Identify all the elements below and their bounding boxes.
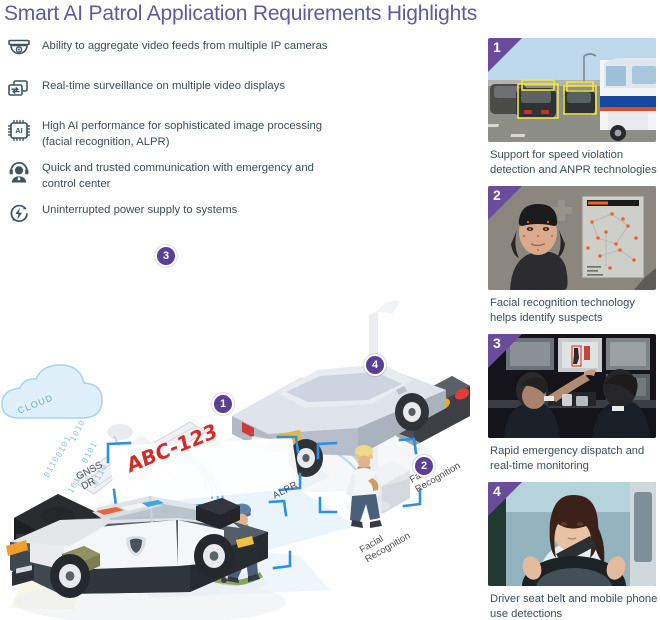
highlight-card-1[interactable]: 1 Support for speed violation detection …: [488, 38, 660, 179]
card-badge-2: 2: [488, 186, 522, 220]
requirement-item-2: Real-time surveillance on multiple video…: [2, 78, 332, 108]
card-photo-driver-detection: 4: [488, 482, 656, 586]
card-badge-1: 1: [488, 38, 522, 72]
card-badge-number: 2: [493, 187, 501, 203]
requirement-item-1: Ability to aggregate video feeds from mu…: [2, 38, 332, 68]
requirement-text: High AI performance for sophisticated im…: [36, 118, 332, 150]
dome-camera-icon: [2, 38, 36, 68]
requirement-text: Real-time surveillance on multiple video…: [36, 78, 285, 95]
card-badge-number: 3: [493, 335, 501, 351]
card-photo-facial-recognition: 2: [488, 186, 656, 290]
video-displays-sync-icon: [2, 78, 36, 108]
requirement-item-4: Quick and trusted communication with eme…: [2, 160, 332, 192]
card-caption: Rapid emergency dispatch and real-time m…: [488, 438, 660, 475]
ai-chip-icon: AI: [2, 118, 36, 148]
scene-badge-4[interactable]: 4: [364, 354, 386, 376]
requirement-text: Quick and trusted communication with eme…: [36, 160, 332, 192]
highlight-card-2[interactable]: 2 Facial recognition technology helps id…: [488, 186, 660, 327]
page-title: Smart AI Patrol Application Requirements…: [4, 2, 477, 26]
requirement-item-3: AI High AI performance for sophisticated…: [2, 118, 332, 150]
scene-badge-2[interactable]: 2: [413, 455, 435, 477]
card-caption: Support for speed violation detection an…: [488, 142, 660, 179]
card-caption: Driver seat belt and mobile phone use de…: [488, 586, 660, 620]
requirement-text: Ability to aggregate video feeds from mu…: [36, 38, 328, 55]
isometric-scene: GNSS DR ABC-123 ALPR Facial Recognition …: [0, 190, 488, 620]
highlight-card-4[interactable]: 4 Driver seat belt and mobile phone use …: [488, 482, 660, 620]
card-badge-number: 4: [493, 483, 501, 499]
infographic-page: Smart AI Patrol Application Requirements…: [0, 0, 660, 620]
card-photo-control-room: 3: [488, 334, 656, 438]
card-caption: Facial recognition technology helps iden…: [488, 290, 660, 327]
card-badge-3: 3: [488, 334, 522, 368]
svg-text:AI: AI: [15, 126, 23, 135]
scene-badge-1[interactable]: 1: [212, 393, 234, 415]
card-badge-number: 1: [493, 39, 501, 55]
scene-badge-3[interactable]: 3: [155, 245, 177, 267]
highlight-cards: 1 Support for speed violation detection …: [488, 38, 660, 620]
card-photo-traffic-anpr: 1: [488, 38, 656, 142]
headset-operator-icon: [2, 160, 36, 190]
highlight-card-3[interactable]: 3 Rapid emergency dispatch and real-time…: [488, 334, 660, 475]
card-badge-4: 4: [488, 482, 522, 516]
